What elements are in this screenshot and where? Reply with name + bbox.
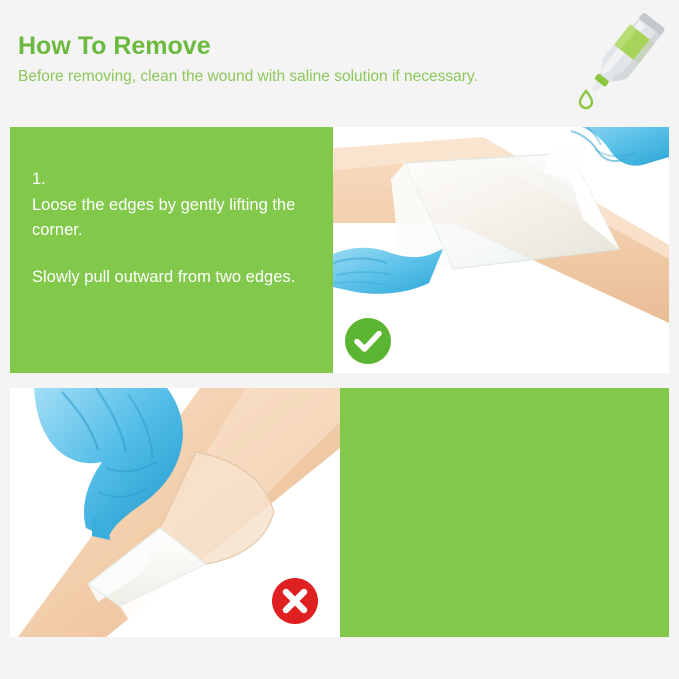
step-2-text-block: 2. Don't pull by one hand. Don't pull up… [340,388,669,637]
status-badge-correct [345,318,391,364]
cross-icon [272,578,318,624]
saline-bottle-icon [566,2,678,114]
step-1-number: 1. [32,167,332,192]
page-title: How To Remove [18,32,211,61]
saline-bottle-svg [566,2,678,114]
step-panel-1: 1. Loose the edges by gently lifting the… [10,127,669,373]
droplet-icon [580,91,592,108]
step-panel-2: 2. Don't pull by one hand. Don't pull up… [10,388,669,637]
page-subtitle: Before removing, clean the wound with sa… [18,68,478,86]
step-1-text-block: 1. Loose the edges by gently lifting the… [10,127,333,373]
status-badge-incorrect [272,578,318,624]
step-1-line-2: Slowly pull outward from two edges. [32,265,332,290]
check-icon [345,318,391,364]
step-1-line-1: Loose the edges by gently lifting the co… [32,193,332,243]
step-1-text: 1. Loose the edges by gently lifting the… [32,167,332,290]
header: How To Remove Before removing, clean the… [0,0,679,118]
